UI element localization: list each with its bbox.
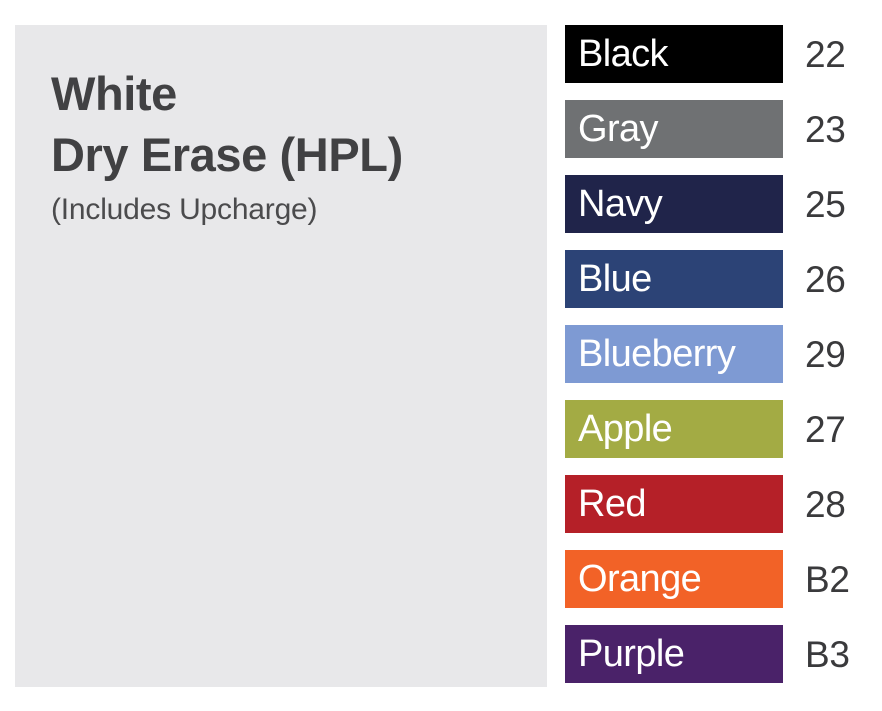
color-chip[interactable]: Navy — [565, 175, 783, 233]
color-name-label: Apple — [578, 410, 672, 448]
color-name-label: Black — [578, 35, 668, 73]
swatch-row[interactable]: PurpleB3 — [565, 625, 865, 683]
color-chip[interactable]: Blue — [565, 250, 783, 308]
color-chip[interactable]: Purple — [565, 625, 783, 683]
color-chip[interactable]: Orange — [565, 550, 783, 608]
color-code-label: 28 — [805, 486, 846, 523]
color-chip[interactable]: Black — [565, 25, 783, 83]
color-code-label: 27 — [805, 411, 846, 448]
swatch-row[interactable]: Blue26 — [565, 250, 865, 308]
color-name-label: Purple — [578, 635, 684, 673]
swatch-row[interactable]: Red28 — [565, 475, 865, 533]
material-info-panel: White Dry Erase (HPL) (Includes Upcharge… — [15, 25, 547, 687]
color-name-label: Orange — [578, 560, 701, 598]
swatch-row[interactable]: Black22 — [565, 25, 865, 83]
color-name-label: Blue — [578, 260, 652, 298]
color-name-label: Navy — [578, 185, 662, 223]
swatch-row[interactable]: Gray23 — [565, 100, 865, 158]
swatch-row[interactable]: Navy25 — [565, 175, 865, 233]
color-code-label: 22 — [805, 36, 846, 73]
color-code-label: B2 — [805, 561, 850, 598]
swatch-reference-card: White Dry Erase (HPL) (Includes Upcharge… — [0, 0, 882, 711]
color-code-label: 23 — [805, 111, 846, 148]
color-name-label: Gray — [578, 110, 658, 148]
swatch-row[interactable]: OrangeB2 — [565, 550, 865, 608]
swatch-row[interactable]: Apple27 — [565, 400, 865, 458]
color-code-label: 26 — [805, 261, 846, 298]
color-chip[interactable]: Red — [565, 475, 783, 533]
color-chip[interactable]: Apple — [565, 400, 783, 458]
color-name-label: Blueberry — [578, 335, 735, 373]
material-upcharge-note: (Includes Upcharge) — [51, 191, 547, 229]
swatch-row[interactable]: Blueberry29 — [565, 325, 865, 383]
color-code-label: 29 — [805, 336, 846, 373]
color-code-label: B3 — [805, 636, 850, 673]
color-swatch-list: Black22Gray23Navy25Blue26Blueberry29Appl… — [565, 25, 865, 683]
color-chip[interactable]: Gray — [565, 100, 783, 158]
color-chip[interactable]: Blueberry — [565, 325, 783, 383]
color-code-label: 25 — [805, 186, 846, 223]
color-name-label: Red — [578, 485, 646, 523]
material-title: White Dry Erase (HPL) — [51, 63, 547, 185]
